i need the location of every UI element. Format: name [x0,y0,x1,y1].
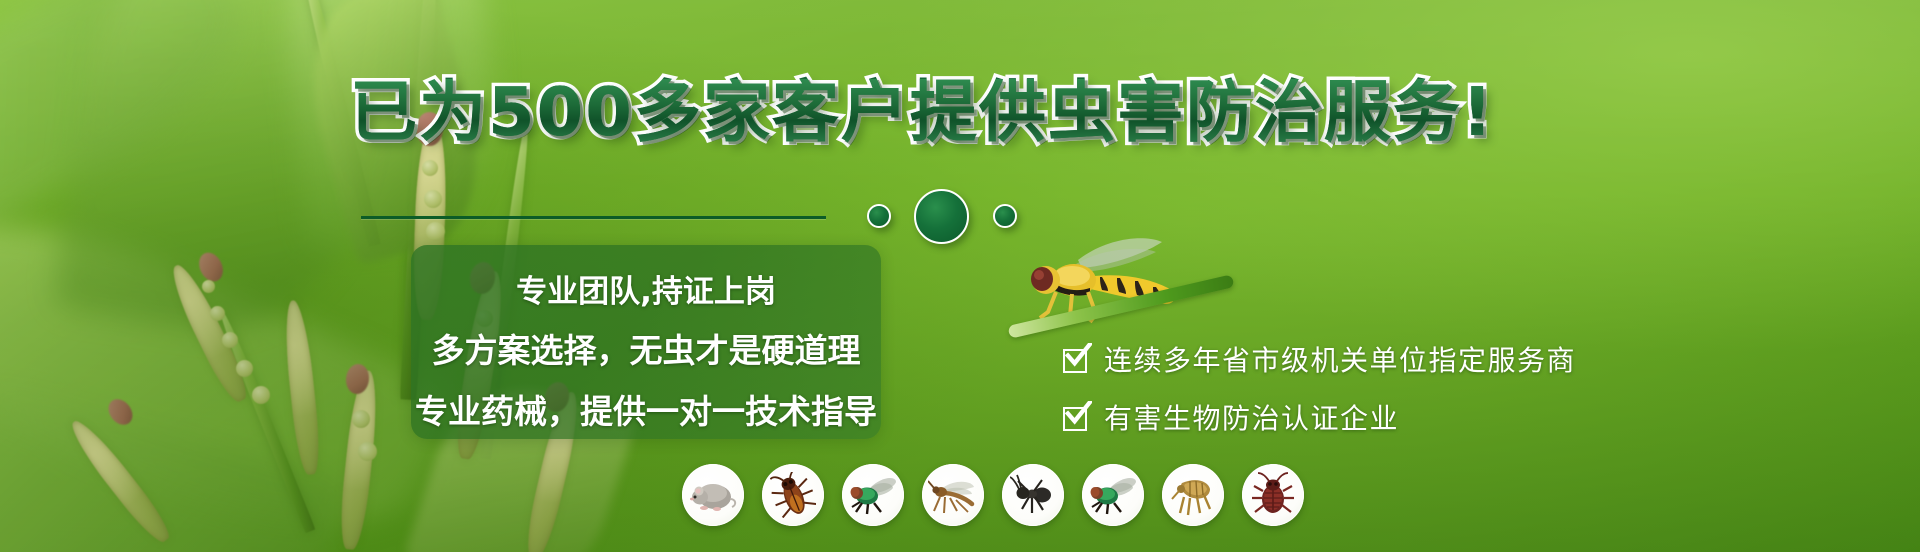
slogan-panel: 专业团队,持证上岗 多方案选择，无虫才是硬道理 专业药械，提供一对一技术指导 [411,245,881,439]
bedbug-icon[interactable] [1242,464,1304,526]
mouse-icon[interactable] [682,464,744,526]
decor-dot-large [914,189,969,244]
decor-dot-small-left [867,204,891,228]
checkmark-box-icon [1063,347,1090,374]
list-item: 有害生物防治认证企业 [1063,390,1603,448]
list-item: 连续多年省市级机关单位指定服务商 [1063,332,1603,390]
decor-dot-small-right [993,204,1017,228]
credential-label: 有害生物防治认证企业 [1104,405,1399,433]
page-title-outline: 已为500多家客户提供虫害防治服务! [350,79,1590,146]
promo-banner: 已为500多家客户提供虫害防治服务! 已为500多家客户提供虫害防治服务! 专业… [0,0,1920,552]
pest-icon-row [682,464,1304,526]
slogan-line-2: 多方案选择，无虫才是硬道理 [411,324,881,372]
credential-label: 连续多年省市级机关单位指定服务商 [1104,347,1576,375]
housefly-icon[interactable] [1082,464,1144,526]
credentials-list: 连续多年省市级机关单位指定服务商 有害生物防治认证企业 [1063,332,1603,448]
mosquito-icon[interactable] [922,464,984,526]
slogan-line-1: 专业团队,持证上岗 [411,266,881,311]
ant-icon[interactable] [1002,464,1064,526]
checkmark-box-icon [1063,405,1090,432]
slogan-line-3: 专业药械，提供一对一技术指导 [411,385,881,433]
horizontal-rule [361,216,826,219]
flea-icon[interactable] [1162,464,1224,526]
fly-icon[interactable] [842,464,904,526]
cockroach-icon[interactable] [762,464,824,526]
hoverfly-insect [1016,232,1206,337]
